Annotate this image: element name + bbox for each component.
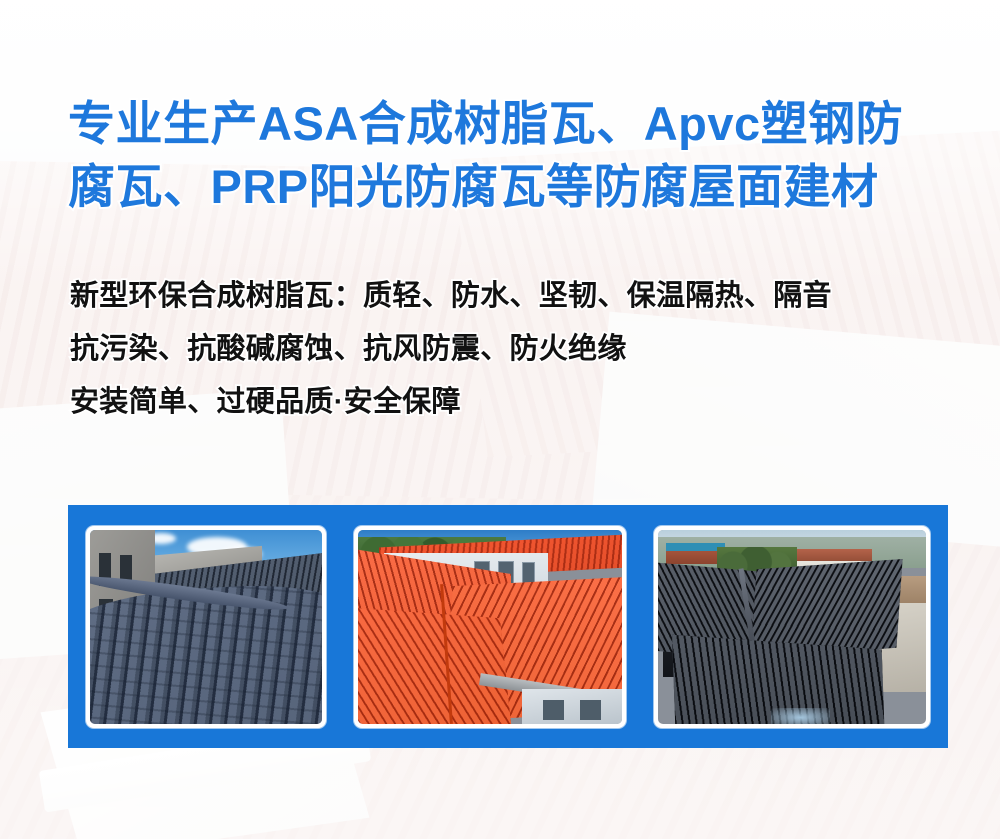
subheadline-line-1: 新型环保合成树脂瓦：质轻、防水、坚韧、保温隔热、隔音 (70, 270, 960, 323)
subheadline-line-2: 抗污染、抗酸碱腐蚀、抗风防震、防火绝缘 (70, 323, 960, 376)
subheadline-block: 新型环保合成树脂瓦：质轻、防水、坚韧、保温隔热、隔音 抗污染、抗酸碱腐蚀、抗风防… (70, 270, 960, 429)
grey-resin-tile-roof-photo (90, 530, 322, 724)
subheadline-line-3: 安装简单、过硬品质·安全保障 (70, 376, 960, 429)
headline-line-2: 腐瓦、PRP阳光防腐瓦等防腐屋面建材 (68, 155, 948, 218)
headline-line-1: 专业生产ASA合成树脂瓦、Apvc塑钢防 (68, 92, 948, 155)
red-resin-tile-roof-photo (358, 530, 622, 724)
gallery-panel (68, 505, 948, 748)
photo2-front-building (522, 689, 622, 724)
photo3-highlight (771, 708, 830, 724)
photo-card-black-roof[interactable] (654, 526, 930, 728)
photo2-window (543, 700, 564, 719)
headline-block: 专业生产ASA合成树脂瓦、Apvc塑钢防 腐瓦、PRP阳光防腐瓦等防腐屋面建材 (68, 92, 948, 218)
photo2-window (580, 700, 601, 719)
black-resin-tile-roof-photo (658, 530, 926, 724)
photo2-main-red-roof-left (358, 604, 513, 723)
photo-card-grey-roof[interactable] (86, 526, 326, 728)
photo-card-red-roof[interactable] (354, 526, 626, 728)
